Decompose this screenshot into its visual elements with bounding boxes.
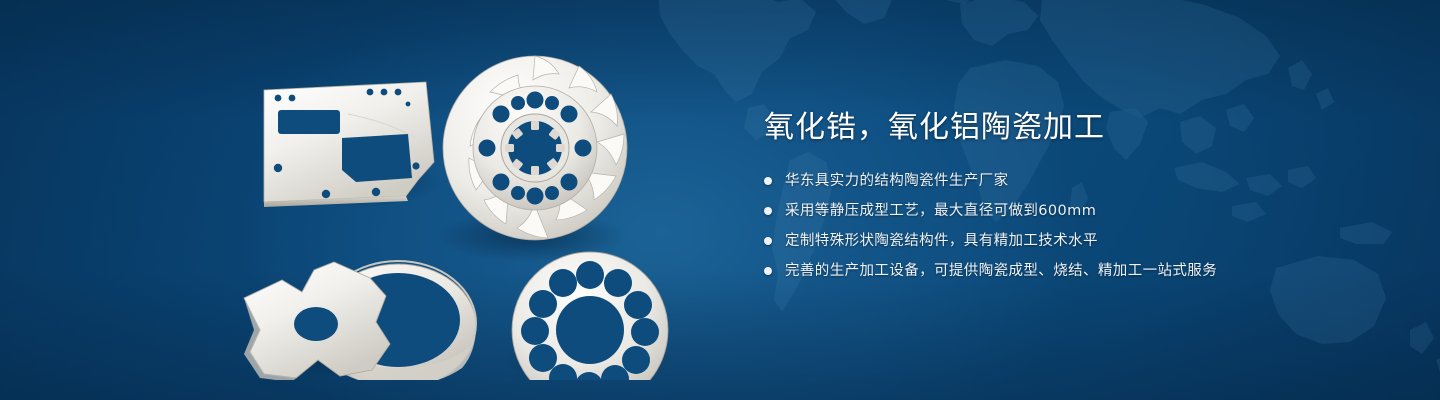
list-item: 采用等静压成型工艺，最大直径可做到600mm bbox=[764, 200, 1324, 222]
ceramic-products-photo bbox=[230, 30, 730, 380]
hero-banner: 氧化锆，氧化铝陶瓷加工 华东具实力的结构陶瓷件生产厂家 采用等静压成型工艺，最大… bbox=[0, 0, 1440, 400]
feature-text: 采用等静压成型工艺，最大直径可做到600mm bbox=[785, 200, 1096, 222]
list-item: 华东具实力的结构陶瓷件生产厂家 bbox=[764, 170, 1324, 192]
ceramic-plate-part bbox=[264, 82, 434, 207]
feature-text: 定制特殊形状陶瓷结构件，具有精加工技术水平 bbox=[785, 230, 1098, 252]
ceramic-impeller-part bbox=[443, 56, 627, 240]
ceramic-valve-plate-part bbox=[512, 252, 668, 380]
bullet-dot-icon bbox=[764, 237, 772, 245]
page-title: 氧化锆，氧化铝陶瓷加工 bbox=[764, 108, 1324, 148]
list-item: 完善的生产加工设备，可提供陶瓷成型、烧结、精加工一站式服务 bbox=[764, 260, 1324, 282]
bullet-dot-icon bbox=[764, 207, 772, 215]
feature-list: 华东具实力的结构陶瓷件生产厂家 采用等静压成型工艺，最大直径可做到600mm 定… bbox=[764, 170, 1324, 282]
feature-text: 华东具实力的结构陶瓷件生产厂家 bbox=[785, 170, 1009, 192]
feature-text: 完善的生产加工设备，可提供陶瓷成型、烧结、精加工一站式服务 bbox=[785, 260, 1217, 282]
list-item: 定制特殊形状陶瓷结构件，具有精加工技术水平 bbox=[764, 230, 1324, 252]
banner-text-column: 氧化锆，氧化铝陶瓷加工 华东具实力的结构陶瓷件生产厂家 采用等静压成型工艺，最大… bbox=[764, 108, 1324, 290]
bullet-dot-icon bbox=[764, 177, 772, 185]
bullet-dot-icon bbox=[764, 267, 772, 275]
